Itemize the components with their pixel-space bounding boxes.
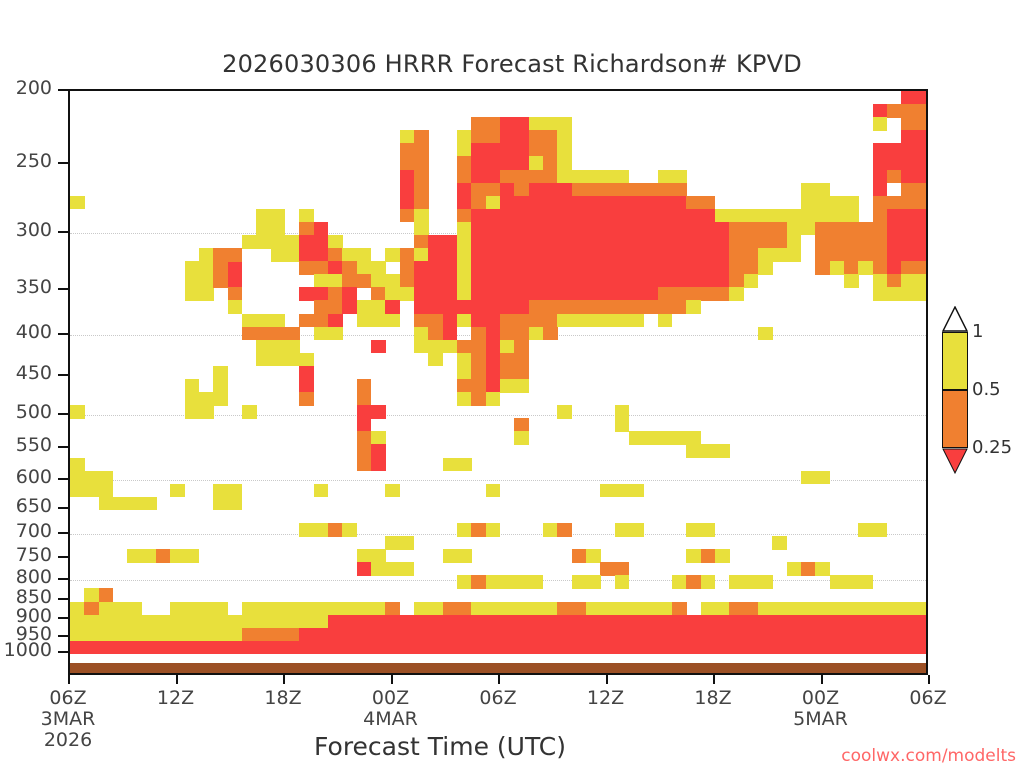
y-tick-mark-750 [58,556,68,558]
x-tick-mark-6 [713,675,715,684]
y-tick-label-700: 700 [0,522,52,541]
y-tick-label-650: 650 [0,497,52,516]
y-tick-mark-700 [58,532,68,534]
y-tick-label-200: 200 [0,79,52,98]
x-tick-label-8: 06Z [868,688,988,709]
y-tick-mark-950 [58,635,68,637]
y-tick-label-300: 300 [0,221,52,240]
y-tick-label-600: 600 [0,468,52,487]
x-tick-label-4: 06Z [438,688,558,709]
terrain-band [70,663,926,673]
colorbar-legend[interactable]: 10.50.25 [942,306,968,474]
x-tick-label-7: 00Z 5MAR [761,688,881,730]
x-tick-label-6: 18Z [653,688,773,709]
x-tick-mark-7 [821,675,823,684]
y-tick-mark-450 [58,374,68,376]
y-tick-label-250: 250 [0,152,52,171]
plot-area[interactable] [68,89,928,675]
y-tick-label-1000: 1000 [0,641,52,660]
x-tick-mark-0 [68,675,70,684]
y-tick-label-350: 350 [0,278,52,297]
y-tick-label-550: 550 [0,436,52,455]
x-axis-title: Forecast Time (UTC) [0,732,880,761]
terrain-layer [70,91,926,673]
x-tick-label-2: 18Z [223,688,343,709]
y-tick-mark-600 [58,478,68,480]
x-tick-mark-5 [606,675,608,684]
y-tick-mark-300 [58,231,68,233]
x-tick-mark-1 [176,675,178,684]
chart-title: 2026030306 HRRR Forecast Richardson# KPV… [0,50,1024,78]
colorbar-segment-2[interactable] [942,390,968,448]
x-tick-mark-3 [391,675,393,684]
y-tick-mark-550 [58,446,68,448]
y-tick-mark-1000 [58,651,68,653]
y-tick-mark-900 [58,617,68,619]
colorbar-arrow-up [942,306,968,332]
x-tick-mark-2 [283,675,285,684]
y-tick-label-500: 500 [0,403,52,422]
x-tick-mark-8 [928,675,930,684]
y-tick-label-750: 750 [0,546,52,565]
y-tick-mark-400 [58,333,68,335]
y-tick-label-800: 800 [0,568,52,587]
y-tick-mark-500 [58,413,68,415]
x-tick-mark-4 [498,675,500,684]
watermark-link[interactable]: coolwx.com/modelts [841,746,1016,766]
y-tick-mark-350 [58,288,68,290]
x-tick-label-5: 12Z [546,688,666,709]
x-tick-label-3: 00Z 4MAR [331,688,451,730]
colorbar-tick-label-1: 1 [972,323,983,341]
y-tick-mark-650 [58,507,68,509]
y-tick-label-850: 850 [0,588,52,607]
y-tick-mark-250 [58,162,68,164]
figure-root: 2026030306 HRRR Forecast Richardson# KPV… [0,0,1024,768]
y-tick-label-400: 400 [0,323,52,342]
colorbar-tick-label-0-25: 0.25 [972,439,1012,457]
x-tick-label-1: 12Z [116,688,236,709]
y-tick-mark-800 [58,578,68,580]
y-tick-label-450: 450 [0,364,52,383]
colorbar-tick-label-0-5: 0.5 [972,381,1001,399]
y-tick-mark-200 [58,89,68,91]
colorbar-segment-1[interactable] [942,332,968,390]
colorbar-arrow-down [942,448,968,474]
y-tick-mark-850 [58,598,68,600]
